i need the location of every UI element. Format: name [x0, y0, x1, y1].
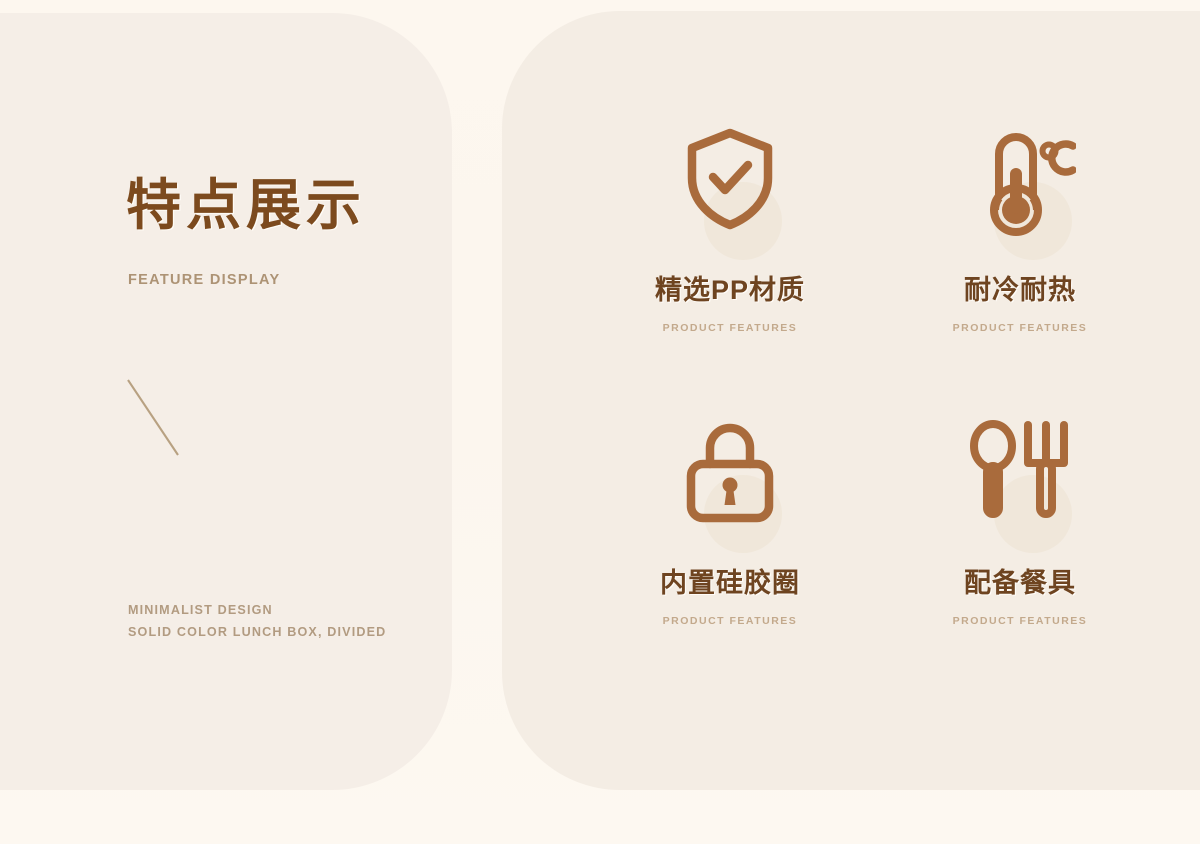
feature-grid: 精选PP材质 PRODUCT FEATURES	[570, 120, 1190, 720]
feature-card-cutlery: 配备餐具 PRODUCT FEATURES	[875, 413, 1165, 627]
left-panel-content: 特点展示 FEATURE DISPLAY MINIMALIST DESIGN S…	[0, 0, 470, 844]
icon-container	[940, 120, 1100, 270]
shield-check-icon	[682, 126, 778, 237]
feature-title: 配备餐具	[875, 569, 1165, 599]
padlock-icon	[681, 419, 779, 530]
thermometer-celsius-icon	[964, 126, 1076, 249]
tagline-line-2: SOLID COLOR LUNCH BOX, DIVIDED	[128, 621, 386, 643]
feature-title: 内置硅胶圈	[585, 569, 875, 599]
tagline: MINIMALIST DESIGN SOLID COLOR LUNCH BOX,…	[128, 599, 386, 643]
feature-caption: PRODUCT FEATURES	[585, 322, 875, 334]
feature-caption: PRODUCT FEATURES	[585, 615, 875, 627]
icon-container	[940, 413, 1100, 563]
feature-title: 耐冷耐热	[875, 276, 1165, 306]
diagonal-line-icon	[120, 372, 190, 462]
feature-caption: PRODUCT FEATURES	[875, 615, 1165, 627]
tagline-line-1: MINIMALIST DESIGN	[128, 599, 386, 621]
feature-card-silicone-ring: 内置硅胶圈 PRODUCT FEATURES	[585, 413, 875, 627]
feature-card-temperature: 耐冷耐热 PRODUCT FEATURES	[875, 120, 1165, 334]
icon-container	[650, 413, 810, 563]
page-title: 特点展示	[126, 178, 366, 233]
promo-banner: 特点展示 FEATURE DISPLAY MINIMALIST DESIGN S…	[0, 0, 1200, 844]
feature-caption: PRODUCT FEATURES	[875, 322, 1165, 334]
feature-title: 精选PP材质	[585, 276, 875, 306]
spoon-fork-icon	[964, 419, 1076, 528]
feature-card-pp-material: 精选PP材质 PRODUCT FEATURES	[585, 120, 875, 334]
icon-container	[650, 120, 810, 270]
page-subtitle: FEATURE DISPLAY	[128, 272, 280, 288]
